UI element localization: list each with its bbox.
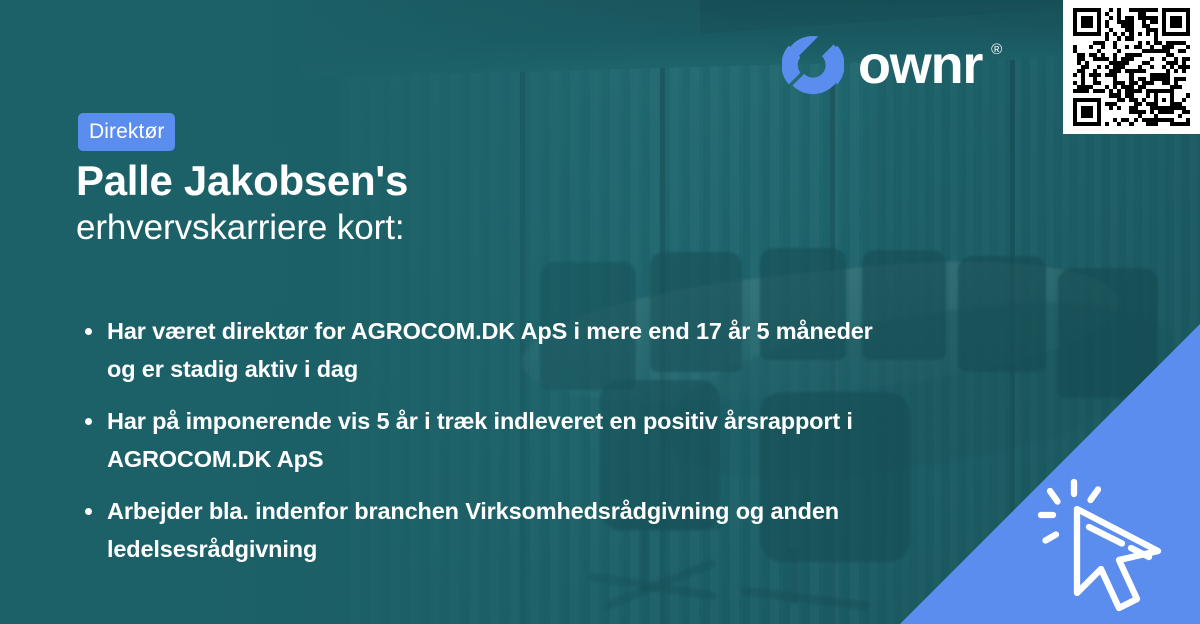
list-item: Har på imponerende vis 5 år i træk indle… [80,402,890,478]
corner-accent [900,324,1200,624]
registered-trademark-icon: ® [991,42,1002,57]
person-name: Palle Jakobsen's [76,158,776,204]
ownr-wordmark-text: ownr [858,35,982,95]
qr-code-icon [1073,8,1191,126]
headline-subtitle: erhvervskarriere kort: [76,206,776,250]
career-highlights-list: Har været direktør for AGROCOM.DK ApS i … [80,312,890,568]
ownr-logo[interactable]: ownr® [782,34,1002,96]
click-cursor-icon [1032,470,1182,620]
business-card-banner: Direktør Palle Jakobsen's erhvervskarrie… [0,0,1200,624]
qr-code-panel[interactable] [1063,0,1200,134]
list-item: Arbejder bla. indenfor branchen Virksomh… [80,492,890,568]
role-badge: Direktør [78,113,175,151]
headline-block: Palle Jakobsen's erhvervskarriere kort: [76,158,776,250]
ownr-wordmark: ownr® [858,38,1002,92]
list-item: Har været direktør for AGROCOM.DK ApS i … [80,312,890,388]
ownr-circle-swoosh-icon [782,34,844,96]
